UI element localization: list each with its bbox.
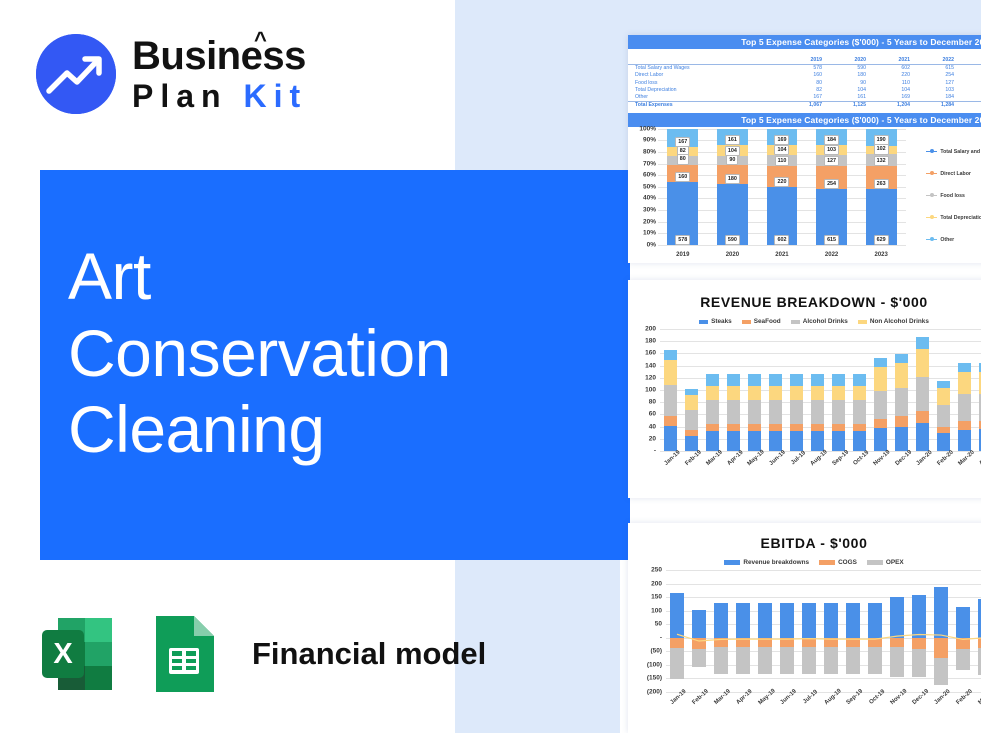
bar-segment <box>811 386 824 401</box>
axis-tick-label: 2019 <box>676 252 689 258</box>
axis-tick-label: (100) <box>647 661 662 668</box>
table-cell: 615 <box>912 64 956 72</box>
legend-swatch <box>819 560 835 565</box>
table-row-label: Total Salary and Wages <box>628 64 780 72</box>
x-label-slot: Aug-19 <box>807 453 828 479</box>
axis-tick-label: Jul-19 <box>803 689 820 705</box>
table-cell: 102 <box>956 86 981 93</box>
bar-segment <box>811 431 824 451</box>
bar-segment <box>832 386 845 401</box>
table-cell: 184 <box>912 93 956 101</box>
bar-segment <box>832 400 845 424</box>
expense-table-title: Top 5 Expense Categories ($'000) - 5 Yea… <box>628 35 981 49</box>
legend-label: Total Salary and Wages <box>940 149 981 155</box>
brand-logo: Business ^ Plan Kit <box>36 34 307 114</box>
legend-item: Steaks <box>699 318 732 325</box>
ebitda-chart-title: EBITDA - $'000 <box>628 535 981 551</box>
revenue-chart: 20018016014012010080604020- Jan-19Feb-19… <box>628 327 981 479</box>
bar-segment: 90 <box>717 156 748 165</box>
bar-segment: 190 <box>866 129 897 146</box>
bar-segment <box>790 424 803 431</box>
revenue-bar-group <box>660 329 981 451</box>
bar-segment <box>958 363 971 372</box>
bar-segment <box>685 395 698 410</box>
bar-segment <box>769 386 782 401</box>
stacked-bar <box>702 329 723 451</box>
legend-item: Food loss <box>926 193 981 199</box>
x-label-slot: May-19 <box>754 692 776 718</box>
axis-tick-label: (150) <box>647 675 662 682</box>
bar-segment: 590 <box>717 184 748 245</box>
axis-tick-label: 40% <box>643 195 656 202</box>
bar-segment: 629 <box>866 189 897 244</box>
bar-slot: 169104110220602 <box>757 129 807 245</box>
ebitda-chart: 25020015010050-(50)(100)(150)(200) Jan-1… <box>628 568 981 718</box>
axis-tick-label: (200) <box>647 689 662 696</box>
legend-item: Total Depreciation <box>926 215 981 221</box>
bar-segment: 102 <box>866 146 897 155</box>
x-label-slot: Dec-19 <box>891 453 912 479</box>
bar-segment <box>937 381 950 388</box>
legend-item: Total Salary and Wages <box>926 149 981 155</box>
bar-segment <box>853 431 866 451</box>
axis-tick-label: 10% <box>643 230 656 237</box>
stacked-bar: 190102132263629 <box>866 129 897 245</box>
stacked-bar <box>681 329 702 451</box>
bar-segment <box>685 389 698 395</box>
table-cell: 602 <box>868 64 912 72</box>
bar-segment: 602 <box>767 187 798 245</box>
bar-segment: 167 <box>667 129 698 147</box>
bar-segment <box>958 394 971 421</box>
bar-segment <box>769 374 782 386</box>
table-row-label: Other <box>628 93 780 101</box>
table-column-header: 2023 <box>956 56 981 64</box>
table-cell: 590 <box>824 64 868 72</box>
bar-segment <box>664 416 677 426</box>
ebitda-x-axis-labels: Jan-19Feb-19Mar-19Apr-19May-19Jun-19Jul-… <box>666 692 981 718</box>
legend-item: COGS <box>819 559 857 566</box>
bar-data-label: 615 <box>824 235 839 245</box>
table-cell: 220 <box>868 72 912 79</box>
x-label-slot: 2022 <box>807 252 857 258</box>
bar-segment: 103 <box>816 145 847 154</box>
revenue-plot-area <box>660 329 981 451</box>
bar-segment: 110 <box>767 155 798 166</box>
stacked-bar <box>807 329 828 451</box>
bar-segment <box>727 424 740 431</box>
x-label-slot: Dec-19 <box>908 692 930 718</box>
x-label-slot: 2021 <box>757 252 807 258</box>
table-cell: 169 <box>868 93 912 101</box>
bar-segment <box>664 426 677 451</box>
stacked-bar <box>849 329 870 451</box>
legend-swatch <box>791 320 800 324</box>
bar-segment: 615 <box>816 189 847 245</box>
bar-segment <box>937 405 950 426</box>
ebitda-chart-y-axis: 25020015010050-(50)(100)(150)(200) <box>628 568 664 718</box>
legend-swatch <box>926 195 937 197</box>
financial-model-label: Financial model <box>252 636 486 672</box>
axis-tick-label: Jan-19 <box>663 450 681 467</box>
axis-tick-label: - <box>660 634 662 641</box>
bar-slot <box>681 329 702 451</box>
bar-segment <box>748 400 761 424</box>
axis-tick-label: 140 <box>645 362 656 369</box>
table-cell: 263 <box>956 72 981 79</box>
expense-categories-card: Top 5 Expense Categories ($'000) - 5 Yea… <box>628 35 981 263</box>
bar-segment <box>727 386 740 401</box>
legend-swatch <box>742 320 751 324</box>
axis-tick-label: Sep-19 <box>831 449 850 467</box>
bar-data-label: 127 <box>824 156 839 166</box>
revenue-chart-title: REVENUE BREAKDOWN - $'000 <box>628 294 981 310</box>
bar-segment: 180 <box>717 165 748 184</box>
table-row-label: Total Expenses <box>628 101 780 109</box>
bar-slot <box>765 329 786 451</box>
legend-label: OPEX <box>886 559 904 566</box>
x-label-slot: Mar-20 <box>954 453 975 479</box>
x-label-slot: Aug-19 <box>820 692 842 718</box>
x-label-slot: Jan-19 <box>666 692 688 718</box>
bar-data-label: 103 <box>824 145 839 155</box>
x-label-slot: Apr-19 <box>723 453 744 479</box>
bar-segment <box>706 431 719 451</box>
legend-item: Non Alcohol Drinks <box>858 318 929 325</box>
legend-swatch <box>926 151 937 153</box>
table-cell: 82 <box>780 86 824 93</box>
bar-slot: 184103127254615 <box>807 129 857 245</box>
page-title-line-2: Conservation <box>68 315 451 392</box>
table-row: Total Salary and Wages578590602615629 <box>628 64 981 72</box>
x-label-slot: Feb-20 <box>952 692 974 718</box>
x-label-slot: 2020 <box>708 252 758 258</box>
bar-slot <box>933 329 954 451</box>
legend-label: Other <box>940 237 954 243</box>
table-row-label: Total Depreciation <box>628 86 780 93</box>
microsoft-excel-icon: X <box>36 612 120 696</box>
axis-tick-label: Mar-20 <box>957 450 975 467</box>
axis-tick-label: 100 <box>645 387 656 394</box>
bar-segment <box>790 431 803 451</box>
axis-tick-label: 20% <box>643 218 656 225</box>
table-cell: 90 <box>824 79 868 86</box>
brand-line-plan-kit: Plan Kit <box>132 80 307 112</box>
ebitda-line-series <box>666 570 981 692</box>
bar-segment: 160 <box>667 165 698 182</box>
bar-slot <box>807 329 828 451</box>
bar-segment <box>895 427 908 451</box>
axis-tick-label: 250 <box>651 567 662 574</box>
stacked-bar <box>765 329 786 451</box>
svg-text:X: X <box>53 638 73 670</box>
bar-data-label: 161 <box>725 135 740 145</box>
bar-segment <box>685 436 698 451</box>
axis-tick-label: 100 <box>651 607 662 614</box>
axis-tick-label: 50% <box>643 183 656 190</box>
x-label-slot: Jul-19 <box>798 692 820 718</box>
bar-segment <box>790 374 803 386</box>
bar-data-label: 629 <box>874 235 889 245</box>
legend-item: SeaFood <box>742 318 781 325</box>
x-label-slot: May-19 <box>744 453 765 479</box>
axis-tick-label: Feb-19 <box>684 450 702 467</box>
legend-item: Alcohol Drinks <box>791 318 848 325</box>
brand-kit-text: Kit <box>243 78 307 114</box>
bar-segment: 263 <box>866 166 897 189</box>
format-badges: X Financial model <box>36 612 486 696</box>
expense-plot-area: 1678280160578161104901805901691041102206… <box>658 129 906 245</box>
table-column-header: 2020 <box>824 56 868 64</box>
stacked-bar <box>891 329 912 451</box>
axis-tick-label: 40 <box>649 423 656 430</box>
bar-segment <box>853 386 866 401</box>
axis-tick-label: 120 <box>645 374 656 381</box>
bar-segment <box>769 400 782 424</box>
expense-chart-legend: Total Salary and WagesDirect LaborFood l… <box>926 149 981 259</box>
axis-tick-label: 90% <box>643 137 656 144</box>
axis-tick-label: 180 <box>645 338 656 345</box>
table-row: Total Depreciation82104104103102 <box>628 86 981 93</box>
ebitda-card: EBITDA - $'000 Revenue breakdownsCOGSOPE… <box>628 523 981 733</box>
axis-tick-label: Jan-20 <box>934 689 952 706</box>
x-label-slot: Jun-19 <box>776 692 798 718</box>
bar-slot <box>870 329 891 451</box>
legend-label: Steaks <box>711 318 732 325</box>
bar-segment <box>811 424 824 431</box>
legend-label: Alcohol Drinks <box>803 318 848 325</box>
bar-segment <box>874 428 887 451</box>
axis-tick-label: 0% <box>647 241 656 248</box>
bar-segment <box>916 423 929 451</box>
x-label-slot: Sep-19 <box>828 453 849 479</box>
x-label-slot: Jun-19 <box>765 453 786 479</box>
page-title-line-3: Cleaning <box>68 391 451 468</box>
bar-segment <box>832 374 845 386</box>
table-cell: 1,316 <box>956 101 981 109</box>
table-row: Food loss8090110127132 <box>628 79 981 86</box>
table-cell: 104 <box>824 86 868 93</box>
bar-slot <box>786 329 807 451</box>
bar-segment <box>706 386 719 401</box>
bar-data-label: 132 <box>874 156 889 166</box>
table-row: Direct Labor160180220254263 <box>628 72 981 79</box>
bar-segment <box>916 337 929 349</box>
legend-swatch <box>926 173 937 175</box>
x-label-slot: Nov-19 <box>886 692 908 718</box>
axis-tick-label: Jan-20 <box>915 450 933 467</box>
bar-segment <box>790 386 803 401</box>
x-label-slot: Oct-19 <box>864 692 886 718</box>
table-row: Total Expenses1,0671,1251,2041,2841,316 <box>628 101 981 109</box>
axis-tick-label: Jun-19 <box>768 450 786 467</box>
expense-bar-group: 1678280160578161104901805901691041102206… <box>658 129 906 245</box>
expense-x-axis-labels: 20192020202120222023 <box>658 252 906 258</box>
table-column-header: 2021 <box>868 56 912 64</box>
table-row-label: Direct Labor <box>628 72 780 79</box>
x-label-slot: Nov-19 <box>870 453 891 479</box>
axis-tick-label: Sep-19 <box>846 688 865 706</box>
table-row-label: Food loss <box>628 79 780 86</box>
bar-segment <box>895 354 908 363</box>
axis-tick-label: Mar-19 <box>705 450 723 467</box>
legend-swatch <box>699 320 708 324</box>
bar-segment: 578 <box>667 182 698 245</box>
bar-data-label: 104 <box>774 145 789 155</box>
axis-tick-label: 30% <box>643 206 656 213</box>
bar-segment <box>664 360 677 386</box>
bar-segment: 127 <box>816 155 847 166</box>
bar-segment <box>916 349 929 378</box>
bar-data-label: 180 <box>725 174 740 184</box>
stacked-bar <box>954 329 975 451</box>
axis-tick-label: Mar-19 <box>714 689 732 706</box>
bar-segment <box>958 421 971 430</box>
x-label-slot: Jul-19 <box>786 453 807 479</box>
table-row: Other167161169184190 <box>628 93 981 101</box>
bar-segment <box>853 400 866 424</box>
x-label-slot: 2019 <box>658 252 708 258</box>
page-title-line-1: Art <box>68 238 451 315</box>
axis-tick-label: 2022 <box>825 252 838 258</box>
stacked-bar <box>723 329 744 451</box>
legend-label: SeaFood <box>754 318 781 325</box>
stacked-bar: 169104110220602 <box>767 129 798 245</box>
x-label-slot: Jan-20 <box>930 692 952 718</box>
stacked-bar: 1678280160578 <box>667 129 698 245</box>
legend-label: Total Depreciation <box>940 215 981 221</box>
axis-tick-label: 200 <box>651 580 662 587</box>
bar-segment: 254 <box>816 166 847 189</box>
bar-segment <box>748 424 761 431</box>
bar-segment <box>937 427 950 434</box>
legend-label: Food loss <box>940 193 965 199</box>
bar-slot: 16110490180590 <box>708 129 758 245</box>
bar-segment <box>811 400 824 424</box>
bar-slot <box>723 329 744 451</box>
bar-segment <box>748 386 761 401</box>
table-cell: 629 <box>956 64 981 72</box>
bar-segment <box>769 431 782 451</box>
axis-tick-label: Apr-19 <box>736 689 754 706</box>
brand-business-text: Business <box>132 34 306 78</box>
bar-slot <box>912 329 933 451</box>
expense-chart-title: Top 5 Expense Categories ($'000) - 5 Yea… <box>628 113 981 127</box>
axis-tick-label: 2023 <box>874 252 887 258</box>
bar-segment <box>895 363 908 388</box>
table-cell: 127 <box>912 79 956 86</box>
axis-tick-label: Dec-19 <box>912 688 931 706</box>
expense-table: 20192020202120222023 Total Salary and Wa… <box>628 56 981 109</box>
axis-tick-label: - <box>654 448 656 455</box>
table-cell: 110 <box>868 79 912 86</box>
table-header-row: 20192020202120222023 <box>628 56 981 64</box>
axis-tick-label: Jan-19 <box>670 689 688 706</box>
bar-segment: 169 <box>767 129 798 145</box>
bar-segment <box>685 410 698 430</box>
table-cell: 190 <box>956 93 981 101</box>
bar-segment: 80 <box>667 156 698 165</box>
bar-data-label: 590 <box>725 235 740 245</box>
bar-segment <box>853 424 866 431</box>
legend-swatch <box>926 217 937 219</box>
legend-swatch <box>858 320 867 324</box>
bar-segment <box>874 419 887 428</box>
stacked-bar <box>933 329 954 451</box>
axis-tick-label: (50) <box>650 648 662 655</box>
stacked-bar: 184103127254615 <box>816 129 847 245</box>
bar-segment <box>727 431 740 451</box>
table-column-header: 2019 <box>780 56 824 64</box>
x-label-slot: Apr-19 <box>732 692 754 718</box>
bar-segment <box>790 400 803 424</box>
stacked-bar <box>828 329 849 451</box>
bar-segment <box>874 358 887 367</box>
axis-tick-label: 60 <box>649 411 656 418</box>
expense-stacked-chart: 100%90%80%70%60%50%40%30%20%10%0% 167828… <box>628 127 981 259</box>
bar-segment: 220 <box>767 166 798 187</box>
bar-slot <box>702 329 723 451</box>
bar-segment <box>916 411 929 423</box>
x-label-slot: Mar-19 <box>710 692 732 718</box>
axis-tick-label: Apr-19 <box>726 450 744 467</box>
bar-segment <box>727 400 740 424</box>
hero-block: Art Conservation Cleaning <box>40 170 630 560</box>
table-cell: 160 <box>780 72 824 79</box>
axis-tick-label: Feb-19 <box>692 689 710 706</box>
legend-label: COGS <box>838 559 857 566</box>
table-column-header: 2022 <box>912 56 956 64</box>
axis-tick-label: 150 <box>651 594 662 601</box>
legend-swatch <box>926 239 937 241</box>
axis-tick-label: 200 <box>645 326 656 333</box>
bar-segment <box>958 430 971 451</box>
bar-segment <box>664 350 677 360</box>
bar-segment <box>937 433 950 451</box>
x-label-slot: 2023 <box>856 252 906 258</box>
bar-segment <box>874 367 887 391</box>
bar-data-label: 80 <box>677 154 689 164</box>
table-cell: 103 <box>912 86 956 93</box>
bar-segment <box>895 388 908 416</box>
bar-data-label: 220 <box>774 177 789 187</box>
legend-item: OPEX <box>867 559 904 566</box>
bar-segment <box>664 385 677 416</box>
bar-segment <box>748 374 761 386</box>
x-label-slot: Feb-20 <box>933 453 954 479</box>
table-cell: 1,284 <box>912 101 956 109</box>
brand-line-business: Business ^ <box>132 36 307 76</box>
bar-slot <box>891 329 912 451</box>
brand-plan-text: Plan <box>132 78 228 114</box>
stacked-bar <box>744 329 765 451</box>
x-label-slot: Feb-19 <box>688 692 710 718</box>
bar-slot <box>954 329 975 451</box>
bar-slot <box>849 329 870 451</box>
bar-segment <box>706 400 719 424</box>
legend-label: Revenue breakdowns <box>743 559 809 566</box>
legend-swatch <box>724 560 740 565</box>
table-column-header <box>628 56 780 64</box>
x-label-slot: Jan-19 <box>660 453 681 479</box>
legend-item: Other <box>926 237 981 243</box>
bar-slot: 1678280160578 <box>658 129 708 245</box>
bar-segment <box>811 374 824 386</box>
x-label-slot: Mar-19 <box>702 453 723 479</box>
expense-chart-y-axis: 100%90%80%70%60%50%40%30%20%10%0% <box>628 127 658 259</box>
table-cell: 167 <box>780 93 824 101</box>
bar-data-label: 160 <box>675 172 690 182</box>
